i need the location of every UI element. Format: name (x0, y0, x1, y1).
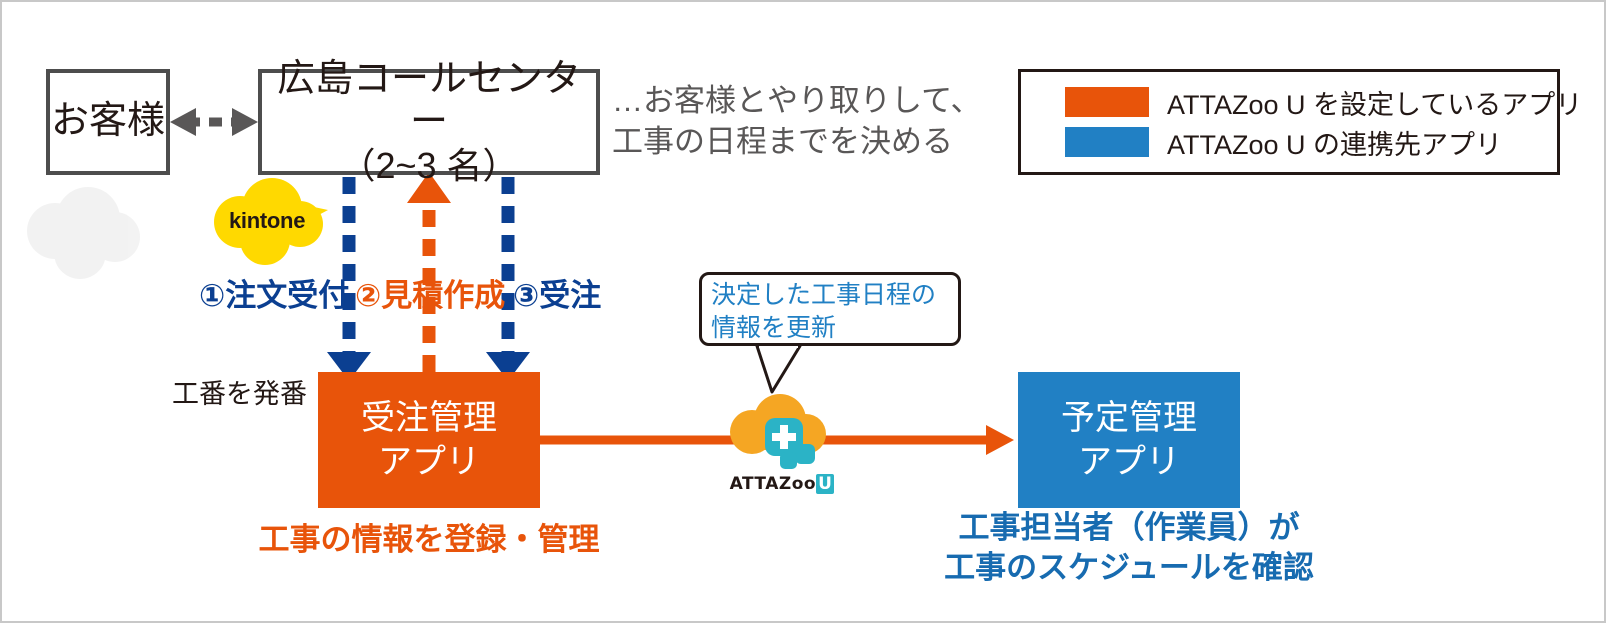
legend-swatch-blue (1065, 127, 1149, 157)
callcenter-box: 広島コールセンター （2~3 名） (258, 69, 600, 175)
step-1-label: ①注文受付 (199, 270, 349, 315)
attazoo-wordmark-main: ATTAZoo (730, 474, 816, 494)
legend-box: ATTAZoo U を設定しているアプリ ATTAZoo U の連携先アプリ (1018, 69, 1560, 175)
legend-swatch-orange (1065, 87, 1149, 117)
step-2-label: ②見積作成 (355, 270, 505, 315)
order-management-app-box: 受注管理 アプリ (318, 372, 540, 508)
attazoo-wordmark-badge: U (816, 474, 834, 494)
legend-label-orange: ATTAZoo U を設定しているアプリ (1167, 83, 1582, 122)
legend-label-blue: ATTAZoo U の連携先アプリ (1167, 123, 1502, 162)
diagram-canvas: お客様 広島コールセンター （2~3 名） 受注管理 アプリ 予定管理 アプリ … (0, 0, 1610, 627)
step-3-label: ③受注 (513, 270, 601, 315)
callcenter-box-label-line2: （2~3 名） (339, 145, 518, 186)
callcenter-note-line2: 工事の日程までを決める (612, 121, 992, 162)
bubble-line1: 決定した工事日程の (711, 279, 961, 312)
schedule-app-label-line1: 予定管理 (1061, 396, 1197, 440)
callcenter-note-line1: …お客様とやり取りして、 (612, 80, 992, 121)
order-app-caption: 工事の情報を登録・管理 (258, 514, 600, 559)
schedule-app-caption-line1: 工事担当者（作業員）が (944, 508, 1314, 548)
schedule-management-app-box: 予定管理 アプリ (1018, 372, 1240, 508)
schedule-app-label-line2: アプリ (1078, 440, 1180, 484)
callcenter-box-label-line1: 広島コールセンター (262, 58, 596, 145)
order-app-label-line2: アプリ (378, 440, 480, 484)
order-app-label-line1: 受注管理 (361, 396, 497, 440)
schedule-app-caption-line2: 工事のスケジュールを確認 (944, 548, 1314, 588)
callcenter-note: …お客様とやり取りして、 工事の日程までを決める (612, 80, 992, 162)
attazoo-logo-wordmark: ATTAZooU (722, 474, 842, 494)
legend-item-blue: ATTAZoo U の連携先アプリ (1065, 122, 1557, 162)
customer-box: お客様 (46, 69, 170, 175)
legend-item-orange: ATTAZoo U を設定しているアプリ (1065, 82, 1557, 122)
update-info-bubble-text: 決定した工事日程の 情報を更新 (711, 279, 961, 344)
schedule-app-caption: 工事担当者（作業員）が 工事のスケジュールを確認 (944, 508, 1314, 587)
kintone-logo-text: kintone (229, 208, 305, 234)
konban-note: 工番を発番 (172, 372, 307, 411)
bubble-line2: 情報を更新 (711, 312, 961, 345)
customer-box-label: お客様 (51, 100, 165, 144)
